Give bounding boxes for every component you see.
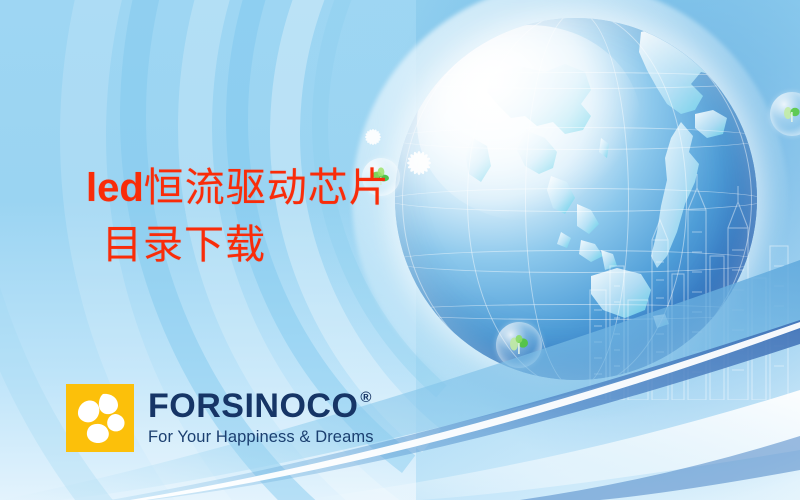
- four-petal-flower-icon: [66, 384, 134, 452]
- headline-line-2: 目录下载: [102, 217, 390, 274]
- headline-cjk: 恒流驱动芯片: [144, 165, 390, 211]
- green-leaf-icon: [505, 331, 533, 359]
- promo-banner: led恒流驱动芯片 目录下载 FORSINOCO ® For Your Happ…: [0, 0, 800, 500]
- logo-tagline: For Your Happiness & Dreams: [148, 428, 374, 446]
- brand-logo: FORSINOCO ® For Your Happiness & Dreams: [66, 384, 374, 452]
- green-leaf-icon: [779, 101, 800, 127]
- registered-mark: ®: [360, 390, 372, 405]
- logo-wordmark-text: FORSINOCO: [148, 389, 358, 423]
- headline-latin: led: [86, 166, 144, 210]
- bubble-leaf: [496, 322, 542, 368]
- globe-rim: [395, 18, 757, 380]
- logo-text-block: FORSINOCO ® For Your Happiness & Dreams: [148, 389, 374, 446]
- headline: led恒流驱动芯片 目录下载: [86, 160, 390, 274]
- globe-icon: [395, 18, 757, 380]
- logo-wordmark: FORSINOCO ®: [148, 389, 374, 423]
- headline-line-1: led恒流驱动芯片: [86, 165, 390, 211]
